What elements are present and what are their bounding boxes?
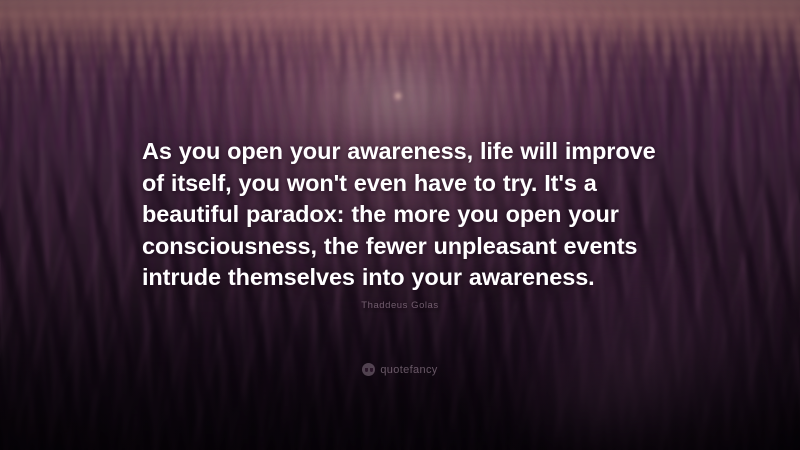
quote-content: As you open your awareness, life will im… (0, 0, 800, 450)
quote-attribution: Thaddeus Golas (0, 300, 800, 311)
quote-wallpaper: As you open your awareness, life will im… (0, 0, 800, 450)
watermark: quotefancy (0, 363, 800, 376)
quote-mark-badge-icon (362, 363, 375, 376)
quote-text: As you open your awareness, life will im… (142, 136, 662, 294)
watermark-brand: quotefancy (380, 364, 437, 376)
quote-block: As you open your awareness, life will im… (142, 136, 662, 294)
